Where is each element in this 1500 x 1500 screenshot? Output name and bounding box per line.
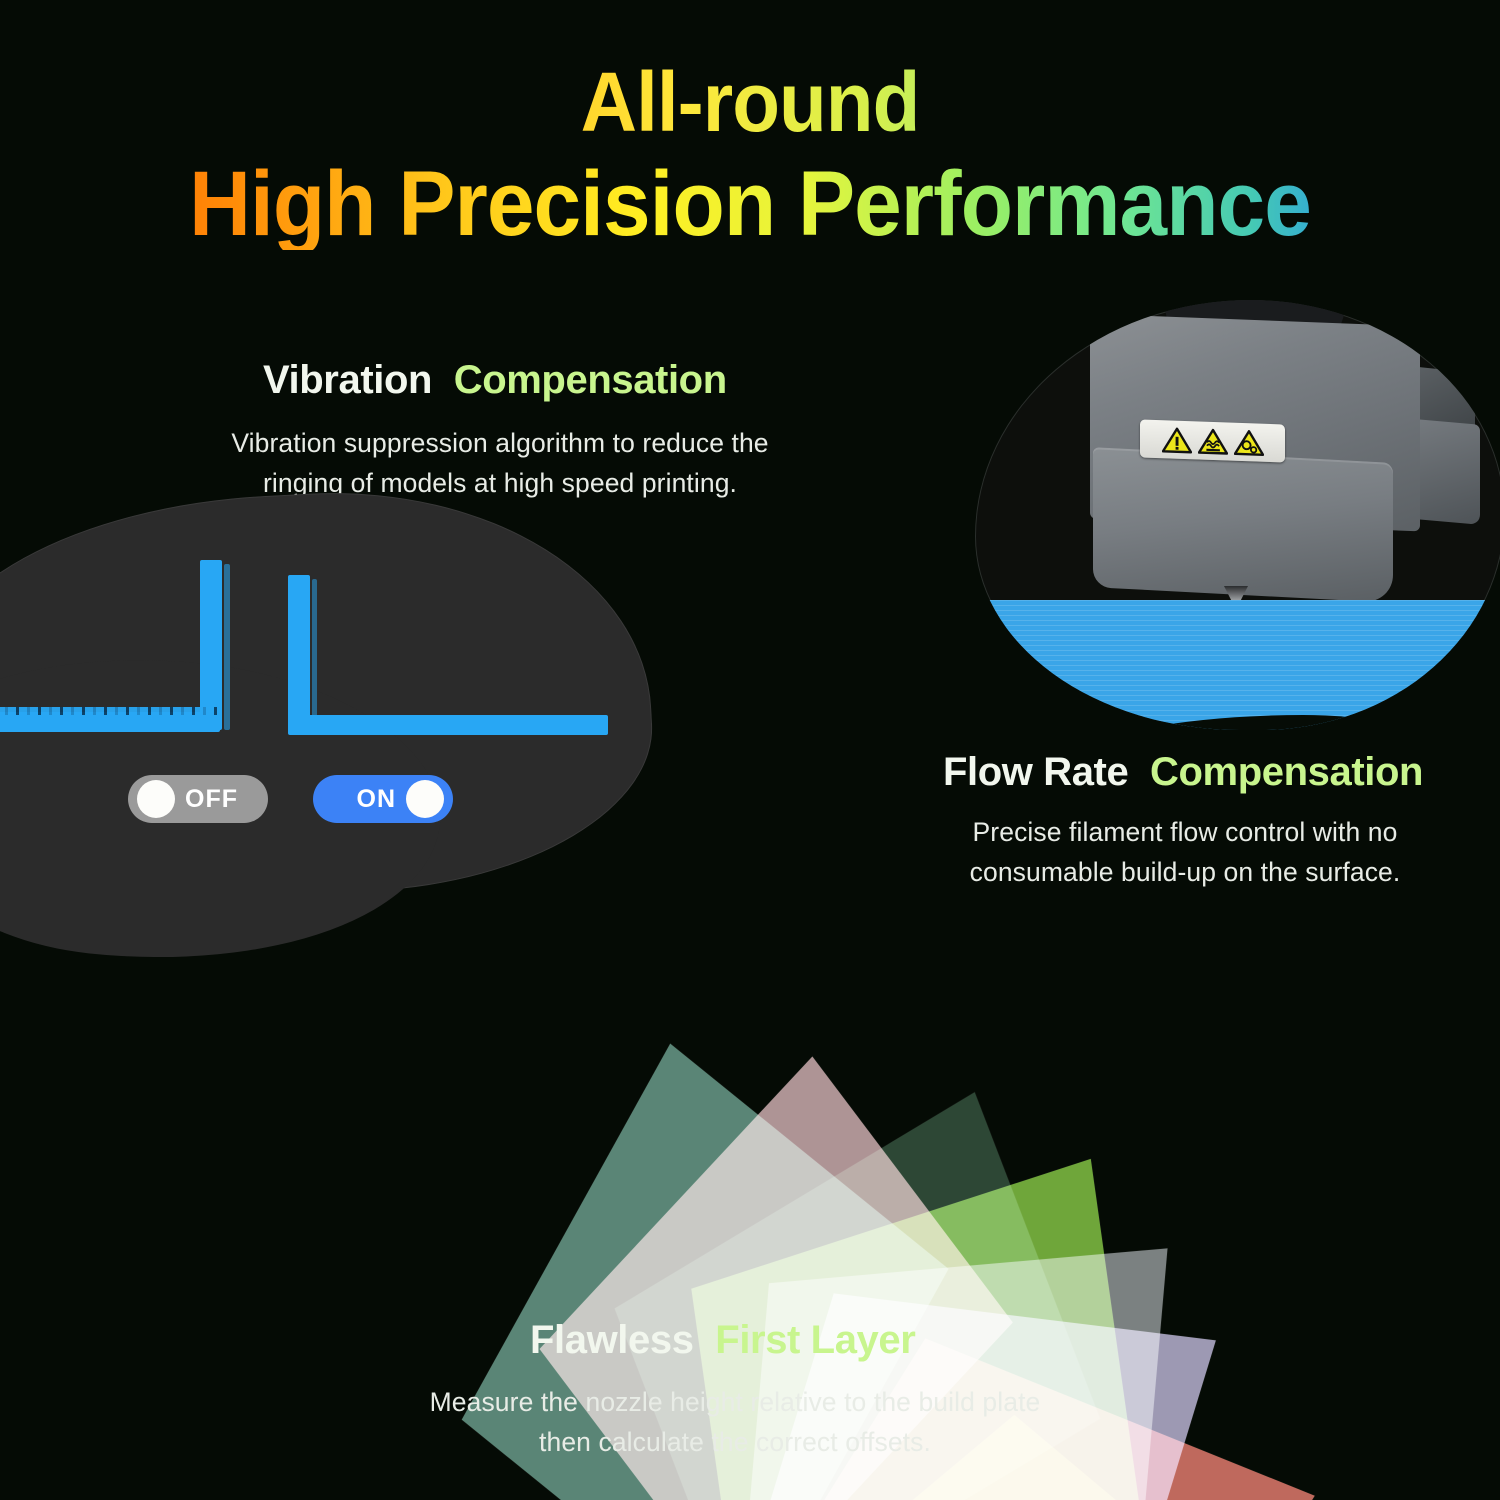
printhead-lower-shell (1093, 447, 1393, 603)
vibration-toggle-on[interactable]: ON (313, 775, 453, 823)
infographic-canvas: All-round High Precision Performance Vib… (0, 0, 1500, 1500)
flow-rate-illustration-panel (975, 300, 1500, 730)
page-title: All-round High Precision Performance (0, 60, 1500, 250)
warning-exclamation-icon (1162, 426, 1192, 454)
print-sample-smooth (288, 575, 628, 755)
flawless-first-layer-heading: Flawless First Layer (530, 1318, 915, 1363)
flow-rate-compensation-heading: Flow Rate Compensation (943, 750, 1423, 795)
print-sample-ringing (0, 560, 280, 740)
toggle-label-off: OFF (185, 785, 238, 814)
vibration-compensation-body: Vibration suppression algorithm to reduc… (190, 423, 810, 504)
flawless-body-line-1: Measure the nozzle height relative to th… (395, 1382, 1075, 1422)
toggle-knob-off (137, 780, 175, 818)
flow-rate-heading-green: Compensation (1150, 750, 1423, 794)
toggle-label-on: ON (357, 785, 397, 814)
vibration-heading-green: Compensation (454, 358, 727, 402)
filament-layers (975, 600, 1500, 730)
headline-line-1: All-round (53, 60, 1448, 144)
vibration-compensation-heading: Vibration Compensation (263, 358, 727, 403)
vibration-toggle-off[interactable]: OFF (128, 775, 268, 823)
flawless-body-line-2: then calculate the correct offsets. (395, 1422, 1075, 1462)
toggle-knob-on (406, 780, 444, 818)
flawless-first-layer-body: Measure the nozzle height relative to th… (395, 1382, 1075, 1463)
printhead-warning-label (1140, 419, 1285, 462)
hot-surface-icon (1198, 427, 1228, 455)
vibration-body-line-1: Vibration suppression algorithm to reduc… (190, 423, 810, 463)
moving-parts-icon (1234, 428, 1264, 456)
flow-rate-heading-white: Flow Rate (943, 750, 1128, 794)
flawless-heading-green: First Layer (715, 1318, 915, 1362)
headline-line-2: High Precision Performance (53, 158, 1448, 250)
flawless-heading-white: Flawless (530, 1318, 694, 1362)
vibration-heading-white: Vibration (263, 358, 432, 402)
